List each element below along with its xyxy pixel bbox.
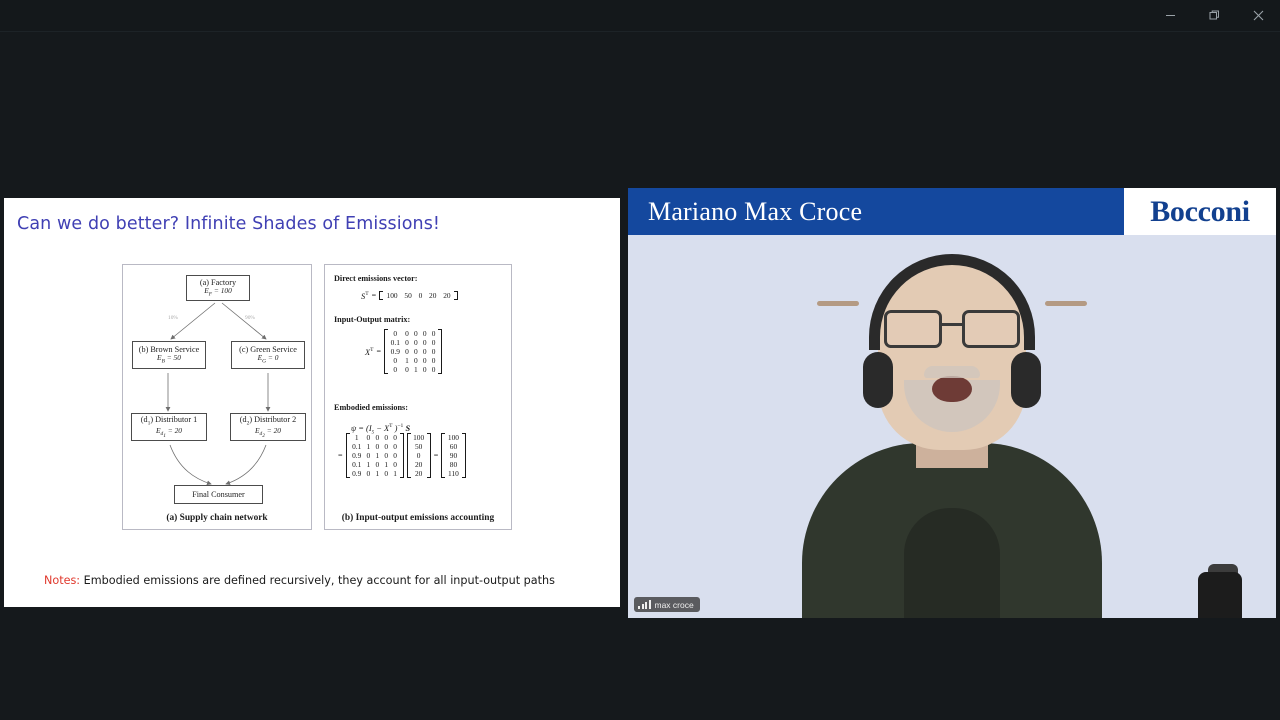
video-panel[interactable]: Mariano Max Croce Bocconi bbox=[628, 188, 1276, 618]
figure-io-accounting: Direct emissions vector: ST = 100 50 0 bbox=[324, 264, 512, 530]
eyebrow-right bbox=[1045, 301, 1087, 306]
leontief-matrix: 10000 0.11000 0.90100 0.11010 0.90101 bbox=[346, 433, 404, 478]
minimize-button[interactable] bbox=[1148, 0, 1192, 32]
result-vector: 100 60 90 80 110 bbox=[441, 433, 465, 478]
figure-supply-chain: (a) Factory EF = 100 10% 90% bbox=[122, 264, 312, 530]
bocconi-logo: Bocconi bbox=[1124, 188, 1276, 235]
figure-a-caption: (a) Supply chain network bbox=[123, 513, 311, 523]
eyebrow-left bbox=[817, 301, 859, 306]
application-window: Can we do better? Infinite Shades of Emi… bbox=[0, 0, 1280, 720]
direct-emissions-equation: ST = 100 50 0 20 20 bbox=[361, 291, 458, 301]
mustache bbox=[924, 366, 980, 378]
notes-label: Notes: bbox=[44, 574, 80, 587]
direct-emissions-heading-wrap: Direct emissions vector: bbox=[334, 274, 418, 283]
window-titlebar bbox=[0, 0, 1280, 32]
video-feed[interactable]: max croce bbox=[628, 235, 1276, 618]
slide-panel[interactable]: Can we do better? Infinite Shades of Emi… bbox=[4, 198, 620, 607]
embodied-emissions-heading-wrap: Embodied emissions: bbox=[334, 403, 408, 412]
slide-title: Can we do better? Infinite Shades of Emi… bbox=[17, 214, 440, 234]
node-distributor-1: (d1) Distributor 1 Ed1 = 20 bbox=[131, 413, 207, 441]
node-brown-service: (b) Brown Service EB = 50 bbox=[132, 341, 206, 369]
io-matrix-heading-wrap: Input-Output matrix: bbox=[334, 315, 410, 324]
signal-bars-icon bbox=[638, 600, 651, 609]
notes-text: Embodied emissions are defined recursive… bbox=[84, 574, 555, 587]
participant-name-badge: max croce bbox=[634, 597, 700, 612]
node-green-service: (c) Green Service EG = 0 bbox=[231, 341, 305, 369]
s-column-vector: 100 50 0 20 20 bbox=[407, 433, 431, 478]
close-button[interactable] bbox=[1236, 0, 1280, 32]
speaker-name: Mariano Max Croce bbox=[628, 188, 1124, 235]
headphones-band bbox=[869, 254, 1035, 350]
embodied-computation: = 10000 0.11000 0.90100 0.11010 0.90101 bbox=[338, 433, 466, 478]
s-vector: 100 50 0 20 20 bbox=[379, 291, 458, 300]
headphone-cup-right bbox=[1011, 352, 1041, 408]
x-transpose-symbol: XT bbox=[365, 347, 374, 357]
microphone bbox=[1198, 572, 1242, 618]
io-matrix-equation: XT = 00000 0.10000 0.90000 01000 00100 bbox=[365, 329, 442, 374]
figure-b-caption: (b) Input-output emissions accounting bbox=[325, 513, 511, 523]
participant-name: max croce bbox=[655, 600, 694, 610]
mouth bbox=[932, 376, 972, 402]
headphone-cup-left bbox=[863, 352, 893, 408]
video-header: Mariano Max Croce Bocconi bbox=[628, 188, 1276, 235]
shirt bbox=[904, 508, 1000, 618]
slide-notes: Notes: Embodied emissions are defined re… bbox=[44, 574, 555, 587]
speaker-webcam-image bbox=[787, 288, 1117, 618]
presentation-stage: Can we do better? Infinite Shades of Emi… bbox=[0, 32, 1280, 720]
node-final-consumer: Final Consumer bbox=[174, 485, 263, 504]
restore-button[interactable] bbox=[1192, 0, 1236, 32]
io-matrix: 00000 0.10000 0.90000 01000 00100 bbox=[384, 329, 442, 374]
s-transpose-symbol: ST bbox=[361, 291, 369, 301]
node-distributor-2: (d2) Distributor 2 Ed2 = 20 bbox=[230, 413, 306, 441]
slide-figures: (a) Factory EF = 100 10% 90% bbox=[118, 264, 512, 464]
